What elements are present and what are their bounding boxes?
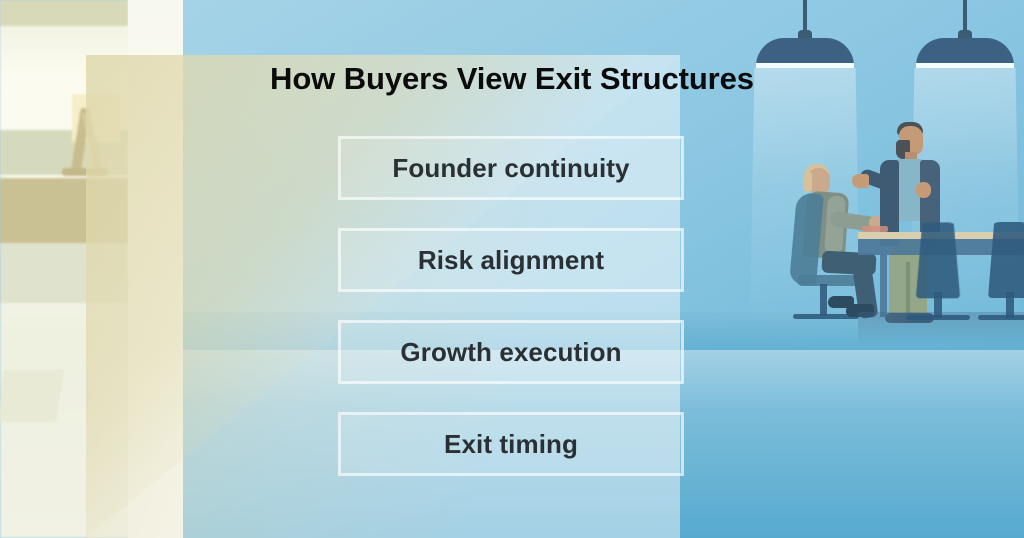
- office-shelf-top: [0, 0, 128, 26]
- standing-person-hand-left: [852, 174, 869, 188]
- standing-person-hand-right: [916, 182, 931, 198]
- office-chair-empty-2-back: [988, 222, 1024, 298]
- list-item-exit-timing[interactable]: Exit timing: [338, 412, 684, 476]
- office-chair-empty-1-back: [916, 222, 960, 298]
- exit-structure-list: Founder continuity Risk alignment Growth…: [338, 136, 684, 476]
- seated-person-hair-side: [803, 172, 812, 192]
- office-chair-occupied-post: [820, 284, 827, 316]
- office-chair-blurred: [0, 370, 64, 422]
- list-item-label: Founder continuity: [392, 153, 629, 184]
- list-item-growth-execution[interactable]: Growth execution: [338, 320, 684, 384]
- slide-graphic: How Buyers View Exit Structures Founder …: [0, 0, 1024, 538]
- list-item-label: Risk alignment: [418, 245, 604, 276]
- standing-person-trouser-seam: [906, 262, 910, 318]
- list-item-founder-continuity[interactable]: Founder continuity: [338, 136, 684, 200]
- list-item-risk-alignment[interactable]: Risk alignment: [338, 228, 684, 292]
- office-chair-empty-1-base: [906, 315, 970, 320]
- list-item-label: Growth execution: [400, 337, 621, 368]
- office-chair-occupied-seat: [797, 275, 859, 286]
- office-chair-empty-2-base: [978, 315, 1024, 320]
- page-title: How Buyers View Exit Structures: [0, 62, 1024, 96]
- list-item-label: Exit timing: [444, 429, 578, 460]
- conference-table-leg: [880, 255, 887, 317]
